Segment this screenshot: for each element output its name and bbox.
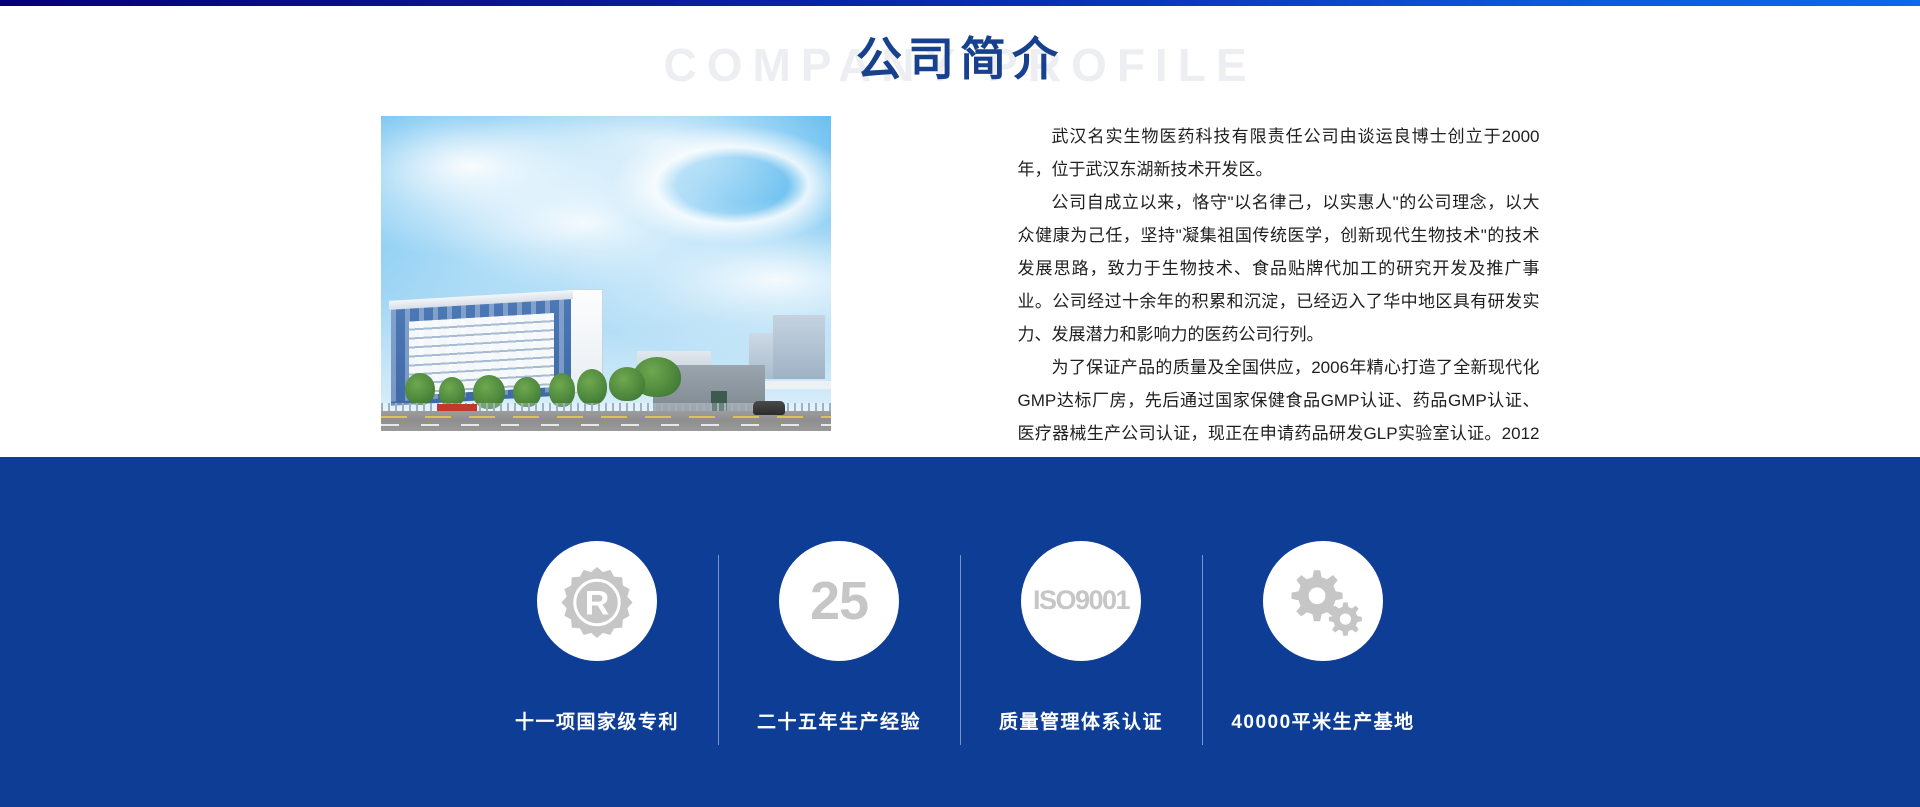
- stat-icon-circle: [1263, 541, 1383, 661]
- stat-label: 二十五年生产经验: [757, 707, 921, 734]
- stat-icon-circle: 25: [779, 541, 899, 661]
- about-paragraph: 公司自成立以来，恪守"以名律己，以实惠人"的公司理念，以大众健康为己任，坚持"凝…: [1018, 186, 1540, 351]
- road-lane-line: [381, 424, 831, 426]
- iso-certificate-icon: ISO9001: [1033, 587, 1129, 614]
- stat-icon-circle: R: [537, 541, 657, 661]
- page-title: 公司简介: [0, 34, 1920, 85]
- stat-item-facility[interactable]: 40000平米生产基地: [1202, 541, 1444, 734]
- stat-icon-circle: ISO9001: [1021, 541, 1141, 661]
- about-paragraph: 武汉名实生物医药科技有限责任公司由谈运良博士创立于2000年，位于武汉东湖新技术…: [1018, 120, 1540, 186]
- stat-item-experience[interactable]: 25 二十五年生产经验: [718, 541, 960, 734]
- red-banner: [437, 404, 477, 411]
- stat-item-iso[interactable]: ISO9001 质量管理体系认证: [960, 541, 1202, 734]
- stat-label: 质量管理体系认证: [999, 707, 1163, 734]
- section-heading: COMPANY PROFILE 公司简介: [0, 16, 1920, 108]
- about-text-column: 武汉名实生物医药科技有限责任公司由谈运良博士创立于2000年，位于武汉东湖新技术…: [1018, 116, 1540, 516]
- company-building-photo: [381, 116, 831, 431]
- company-profile-page: COMPANY PROFILE 公司简介: [0, 16, 1920, 807]
- parked-car: [753, 401, 785, 415]
- stat-label: 十一项国家级专利: [515, 707, 679, 734]
- stats-bar: R 十一项国家级专利 25 二十五年生产经验 ISO9001 质量管理体系认证: [0, 457, 1920, 807]
- top-accent-strip: [0, 0, 1920, 6]
- entrance-canopy: [757, 381, 831, 389]
- about-content: 武汉名实生物医药科技有限责任公司由谈运良博士创立于2000年，位于武汉东湖新技术…: [0, 108, 1920, 516]
- stat-item-patents[interactable]: R 十一项国家级专利: [476, 541, 718, 734]
- tree: [577, 369, 607, 405]
- double-gear-icon: [1284, 566, 1362, 636]
- tree: [405, 373, 435, 405]
- tree: [549, 373, 575, 407]
- stat-label: 40000平米生产基地: [1231, 707, 1414, 734]
- tree: [609, 367, 645, 401]
- road-center-line: [381, 416, 831, 418]
- registered-trademark-gear-icon: R: [560, 564, 634, 638]
- background-building-near: [773, 315, 825, 379]
- number-badge-icon: 25: [810, 574, 868, 628]
- svg-text:R: R: [585, 584, 610, 622]
